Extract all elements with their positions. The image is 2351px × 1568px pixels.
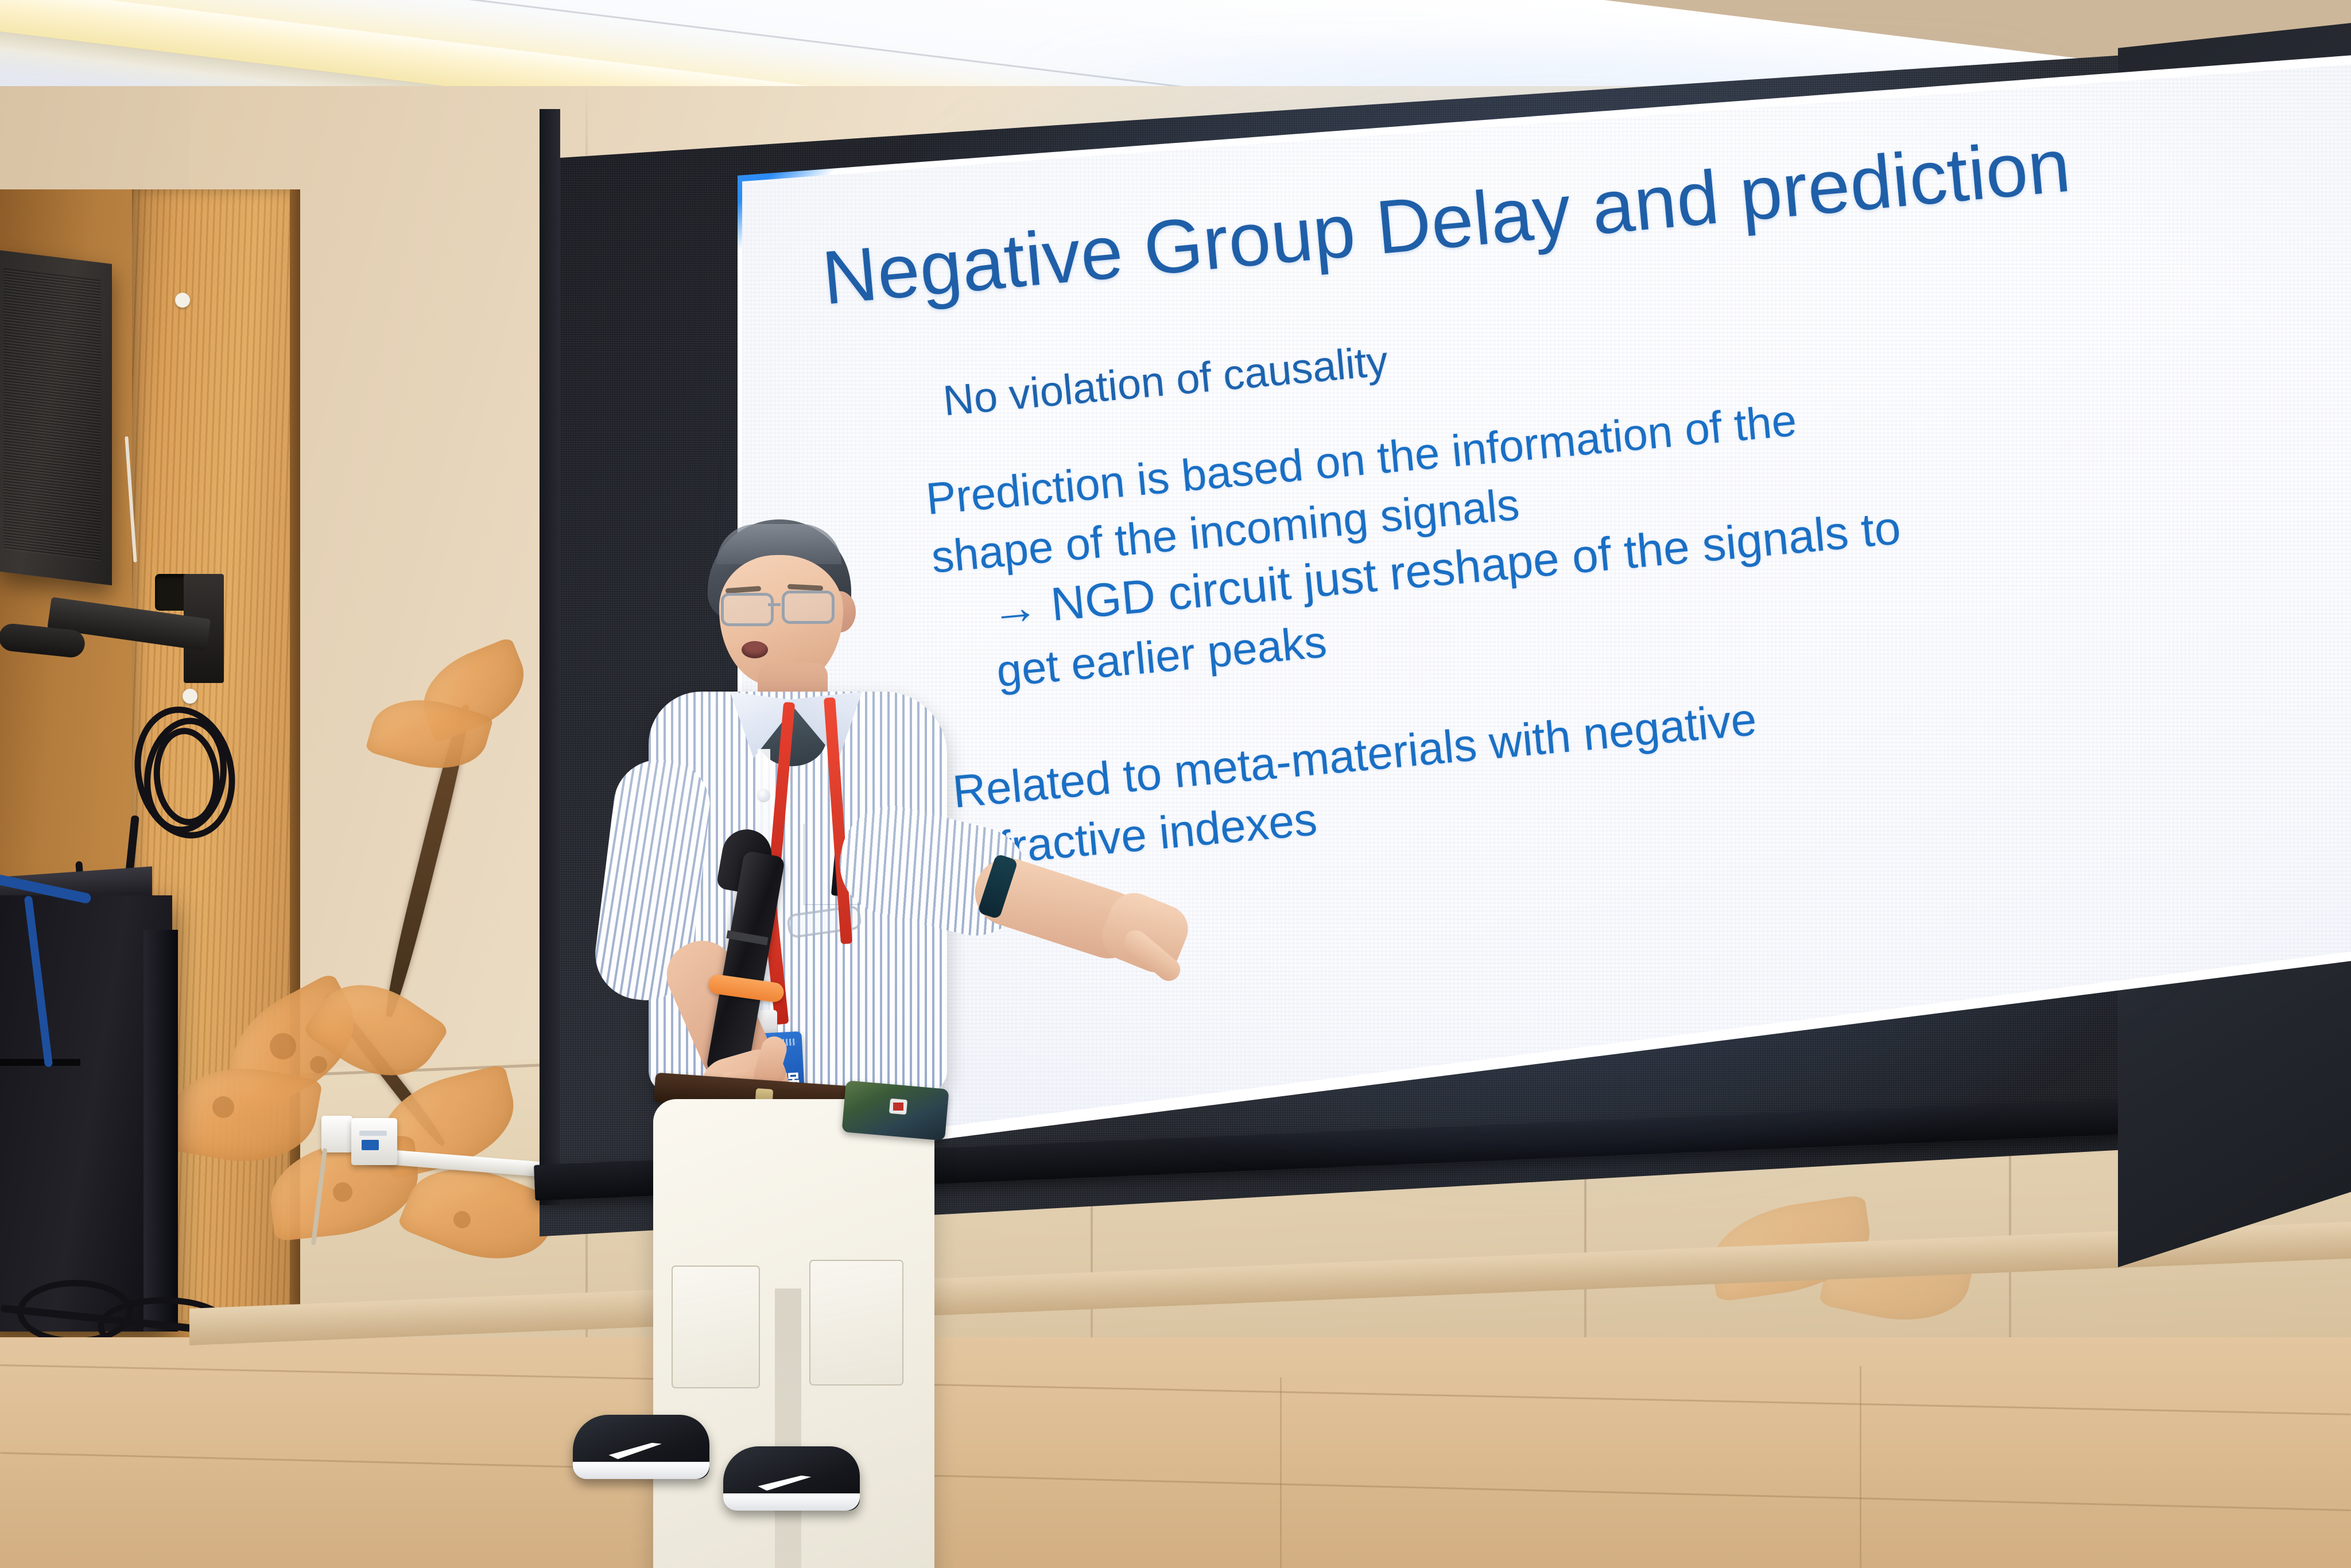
- shirt-button-1: [758, 789, 770, 801]
- presenter-mouth: [742, 641, 768, 658]
- mural-dot-5: [453, 1211, 471, 1228]
- cargo-pocket-right: [809, 1260, 903, 1385]
- eyeglass-lens-left: [721, 593, 774, 626]
- screen-left-edge: [540, 109, 560, 1205]
- speaker-grille: [3, 268, 101, 561]
- outlet-blue-indicator: [362, 1140, 379, 1150]
- slide-title: Negative Group Delay and prediction: [818, 122, 2074, 321]
- wall-speaker: [0, 250, 112, 585]
- cargo-pocket-left: [672, 1266, 760, 1388]
- av-rack-vent: [0, 1059, 80, 1066]
- mural-dot-3: [212, 1096, 234, 1118]
- mural-dot-2: [310, 1056, 327, 1073]
- cable-clip-upper: [175, 293, 190, 308]
- av-rack-side: [143, 930, 178, 1332]
- trouser-leg-split: [775, 1288, 801, 1568]
- floor-joint-v3: [1860, 1366, 1861, 1568]
- mural-dot-4: [333, 1182, 352, 1202]
- eyeglass-bridge: [768, 603, 781, 606]
- floor-joint-v2: [1280, 1377, 1282, 1568]
- wall-switch-box[interactable]: [321, 1116, 352, 1152]
- outlet-slot: [359, 1131, 387, 1136]
- pouch-label-mark: [893, 1103, 903, 1111]
- mural-dot-1: [270, 1033, 296, 1059]
- shoe-right-sole: [723, 1493, 860, 1511]
- photo-scene: Negative Group Delay and prediction No v…: [0, 0, 2351, 1568]
- presenter-eyeglasses: [721, 593, 833, 623]
- eyeglass-lens-right: [782, 591, 835, 624]
- presenter: 陈志强 物理学研究所: [585, 519, 1136, 1530]
- shoe-left-sole: [573, 1462, 709, 1479]
- cable-clip-lower: [183, 689, 197, 704]
- slide-bullet-1: No violation of causality: [941, 336, 1390, 425]
